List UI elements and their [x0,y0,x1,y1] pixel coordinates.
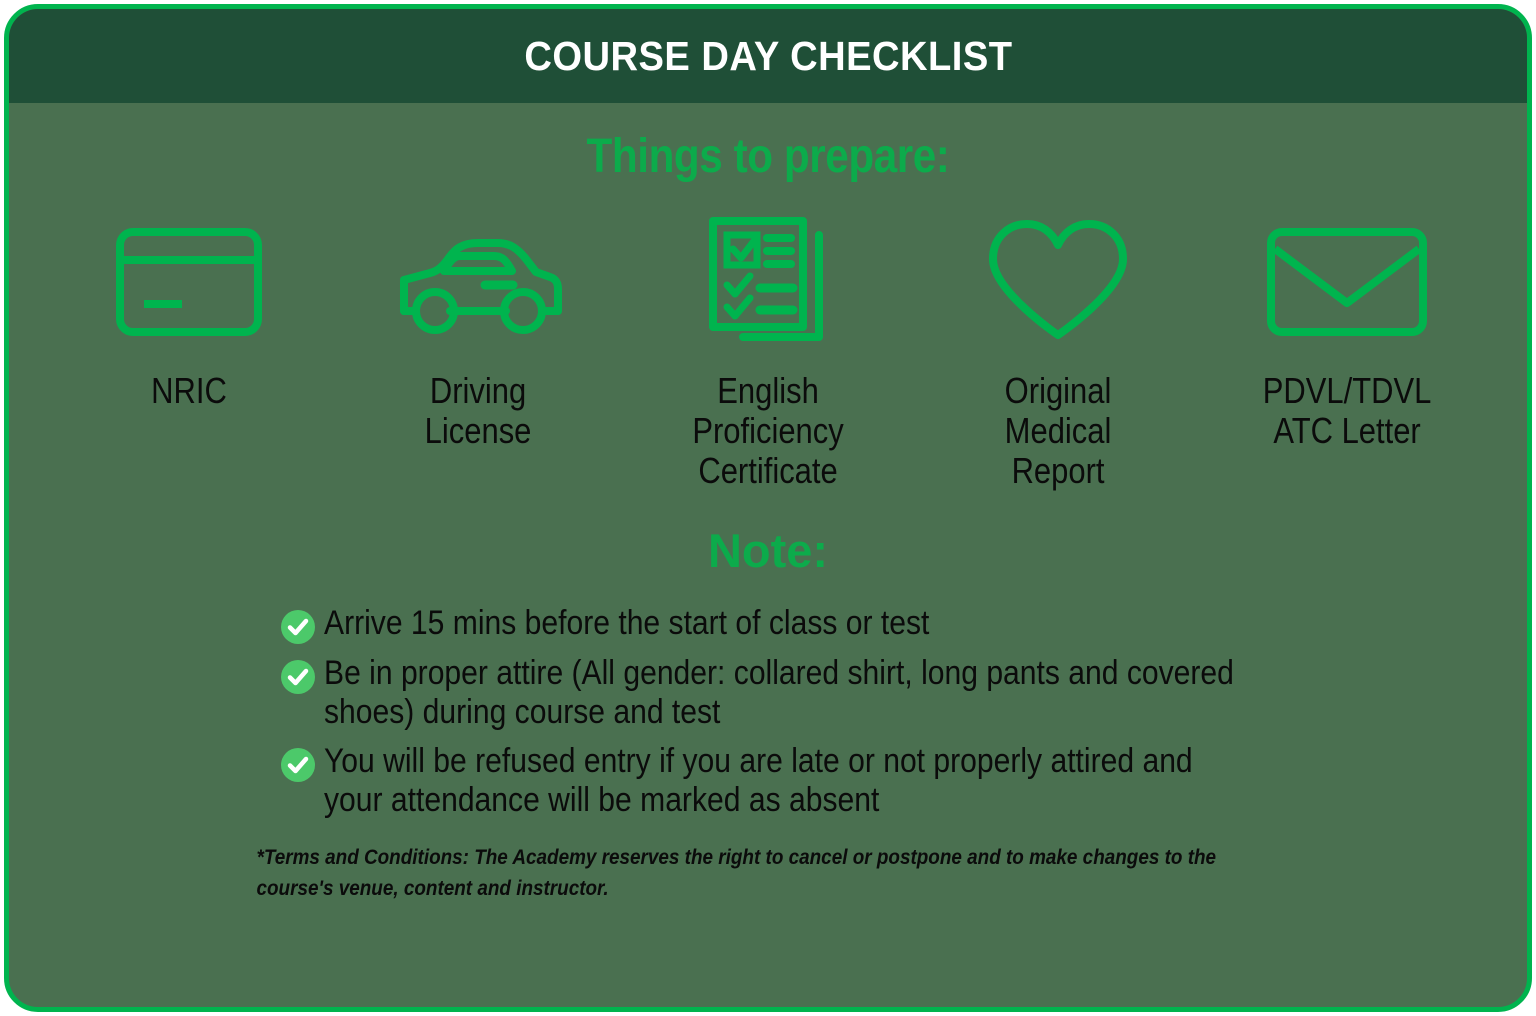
prepare-item-driving-license: Driving License [334,214,624,491]
page-title: COURSE DAY CHECKLIST [524,33,1012,80]
note-list: Arrive 15 mins before the start of class… [9,604,1527,820]
note-list-item: You will be refused entry if you are lat… [281,742,1377,820]
things-to-prepare-heading: Things to prepare: [100,129,1436,184]
prepare-item-nric: NRIC [44,214,334,491]
check-circle-icon [281,660,315,694]
note-heading: Note: [9,523,1527,578]
note-item-text: Arrive 15 mins before the start of class… [324,604,1256,643]
prepare-item-label: Original Medical Report [1004,371,1111,491]
car-icon [390,214,566,349]
prepare-item-medical-report: Original Medical Report [913,214,1203,491]
note-list-item: Arrive 15 mins before the start of class… [281,604,1377,644]
prepare-item-label: English Proficiency Certificate [692,371,843,491]
prepare-item-label: PDVL/TDVL ATC Letter [1263,371,1432,451]
prepare-item-atc-letter: PDVL/TDVL ATC Letter [1202,214,1492,491]
terms-and-conditions: *Terms and Conditions: The Academy reser… [9,842,1375,904]
note-list-item: Be in proper attire (All gender: collare… [281,654,1377,732]
heart-icon [983,214,1133,349]
note-item-text: Be in proper attire (All gender: collare… [324,654,1256,732]
envelope-icon [1266,214,1428,349]
check-circle-icon [281,748,315,782]
checklist-document-icon [705,214,831,349]
prepare-items-row: NRIC Driving License [9,214,1527,491]
prepare-item-english-proficiency: English Proficiency Certificate [623,214,913,491]
prepare-item-label: NRIC [151,371,227,411]
note-item-text: You will be refused entry if you are lat… [324,742,1256,820]
course-day-checklist-card: COURSE DAY CHECKLIST Things to prepare: … [4,4,1532,1012]
id-card-icon [114,214,264,349]
prepare-item-label: Driving License [425,371,532,451]
card-header: COURSE DAY CHECKLIST [9,9,1527,103]
check-circle-icon [281,610,315,644]
card-body: Things to prepare: NRIC [9,129,1527,904]
